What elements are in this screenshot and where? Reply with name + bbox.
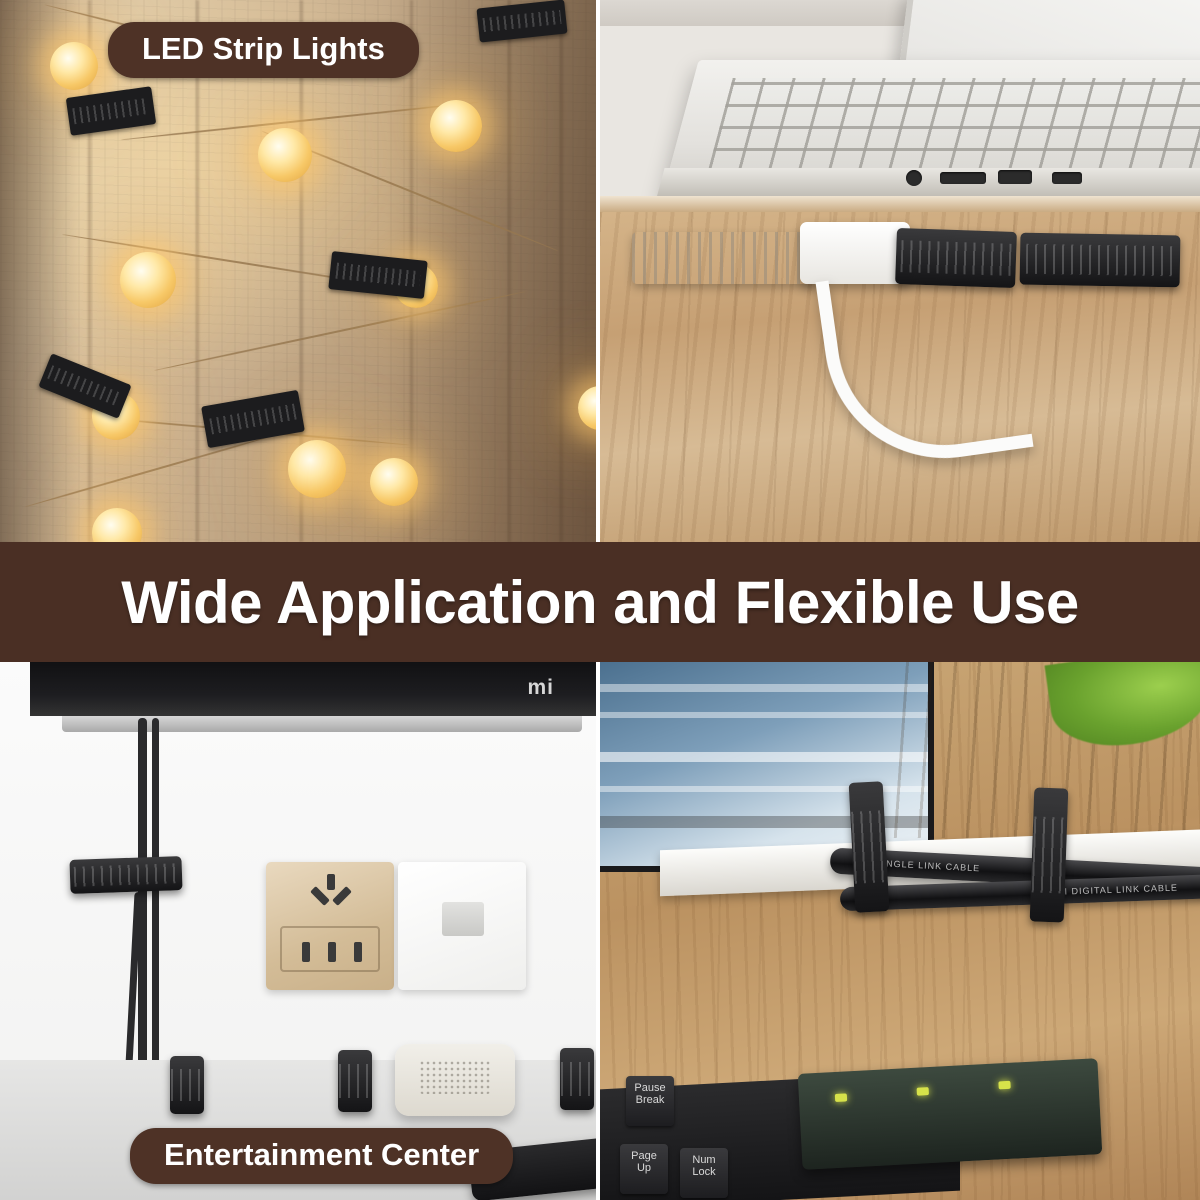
black-cable-clip [1020, 233, 1181, 288]
keyboard-key-page-up: Page Up [620, 1144, 668, 1194]
black-cable-clip [849, 781, 890, 913]
black-cable-clip [895, 228, 1017, 288]
product-collage: LED Strip Lights Desk Wire Management Wi… [0, 0, 1200, 1200]
led-indicator-strip [798, 1058, 1103, 1170]
panel-divider-bottom [596, 662, 600, 1200]
led-bulb [50, 42, 98, 90]
led-bulb [120, 252, 176, 308]
panel-entertainment-center: mi Entertainment Ce [0, 662, 596, 1200]
led-bulb [258, 128, 312, 182]
laptop-port-usbc [940, 172, 986, 184]
monitor-brand-logo: mi [527, 676, 554, 700]
wall-cable [152, 718, 159, 1118]
monitor-bezel: mi [30, 662, 596, 716]
caption-entertainment-center: Entertainment Center [130, 1128, 513, 1184]
desk-front-edge [600, 196, 1200, 212]
key-label: Pause Break [634, 1082, 665, 1106]
laptop-keyboard [707, 78, 1200, 173]
black-cable-clip [338, 1050, 372, 1112]
black-cable-clip [1030, 787, 1069, 922]
panel-led-strip-lights: LED Strip Lights [0, 0, 596, 542]
cable-print-text: DVI DIGITAL LINK CABLE [1050, 883, 1178, 897]
white-cable-clip [632, 232, 818, 284]
speaker-device [395, 1044, 515, 1116]
black-cable-clip [170, 1056, 204, 1114]
network-outlet [398, 862, 526, 990]
led-bulb [370, 458, 418, 506]
power-outlet [266, 862, 394, 990]
led-indicator [917, 1087, 929, 1096]
outlet-slot [327, 874, 335, 890]
outlet-slot [354, 942, 362, 962]
headline-text: Wide Application and Flexible Use [121, 568, 1079, 637]
panel-desk-wire-management: Desk Wire Management [600, 0, 1200, 542]
led-indicator [835, 1093, 847, 1102]
keyboard-key-num-lock: Num Lock [680, 1148, 728, 1198]
laptop-port-hdmi [998, 170, 1032, 184]
led-bulb [430, 100, 482, 152]
outlet-slot [302, 942, 310, 962]
black-cable-clip [69, 856, 182, 894]
led-bulb [288, 440, 346, 498]
screen-content-stripe [600, 712, 928, 718]
keyboard-key-pause-break: Pause Break [626, 1076, 674, 1126]
caption-led-strip-lights: LED Strip Lights [108, 22, 419, 78]
screen-content-stripe [600, 684, 928, 692]
panel-divider-top [596, 0, 600, 542]
led-indicator [998, 1081, 1010, 1090]
black-cable-clip [560, 1048, 594, 1110]
headline-banner: Wide Application and Flexible Use [0, 542, 1200, 662]
outlet-slot [328, 942, 336, 962]
ethernet-port [442, 902, 484, 936]
laptop-port-audio [906, 170, 922, 186]
screen-content-stripe [600, 752, 928, 762]
laptop-port-usb [1052, 172, 1082, 184]
speaker-grill [419, 1060, 491, 1094]
key-label: Num Lock [692, 1154, 715, 1178]
panel-office-cabling: DVI SINGLE LINK CABLE DVI DIGITAL LINK C… [600, 662, 1200, 1200]
key-label: Page Up [631, 1150, 657, 1174]
